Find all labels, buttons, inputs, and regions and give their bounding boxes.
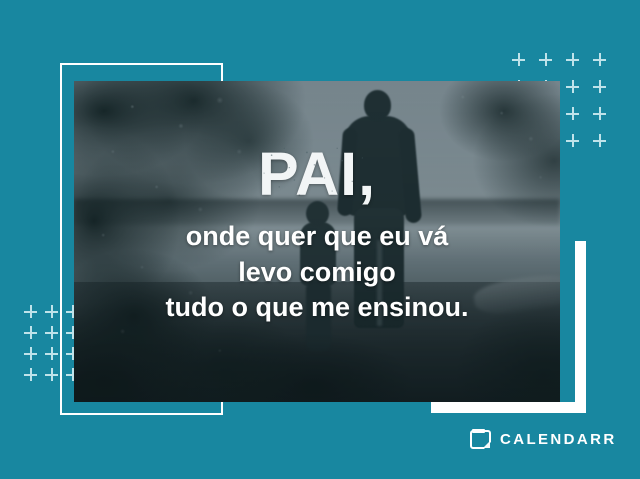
background-photo: [74, 81, 560, 402]
plus-mark-icon: [45, 326, 58, 339]
fathers-day-quote-card: PAI, onde quer que eu vá levo comigo tud…: [0, 0, 640, 479]
plus-mark-icon: [24, 368, 37, 381]
plus-mark-icon: [593, 53, 606, 66]
plus-mark-icon: [512, 53, 525, 66]
thick-white-frame-bottom: [431, 402, 586, 413]
plus-mark-icon: [566, 134, 579, 147]
plus-mark-icon: [593, 134, 606, 147]
plus-mark-icon: [593, 107, 606, 120]
brand-logo[interactable]: CALENDARR: [470, 430, 617, 449]
plus-mark-icon: [539, 53, 552, 66]
plus-mark-icon: [45, 305, 58, 318]
calendar-page-icon-tab: [472, 429, 485, 433]
plus-mark-icon: [45, 347, 58, 360]
plus-mark-icon: [45, 368, 58, 381]
plus-mark-icon: [566, 53, 579, 66]
calendar-page-icon-fold: [483, 441, 490, 448]
plus-mark-icon: [566, 107, 579, 120]
plus-mark-icon: [24, 326, 37, 339]
plus-mark-icon: [24, 305, 37, 318]
plus-mark-icon: [566, 80, 579, 93]
photo-color-grade: [74, 81, 560, 402]
plus-mark-icon: [593, 80, 606, 93]
plus-mark-icon: [24, 347, 37, 360]
brand-name: CALENDARR: [500, 431, 617, 448]
calendar-page-icon: [470, 430, 491, 449]
thick-white-frame-right: [575, 241, 586, 413]
